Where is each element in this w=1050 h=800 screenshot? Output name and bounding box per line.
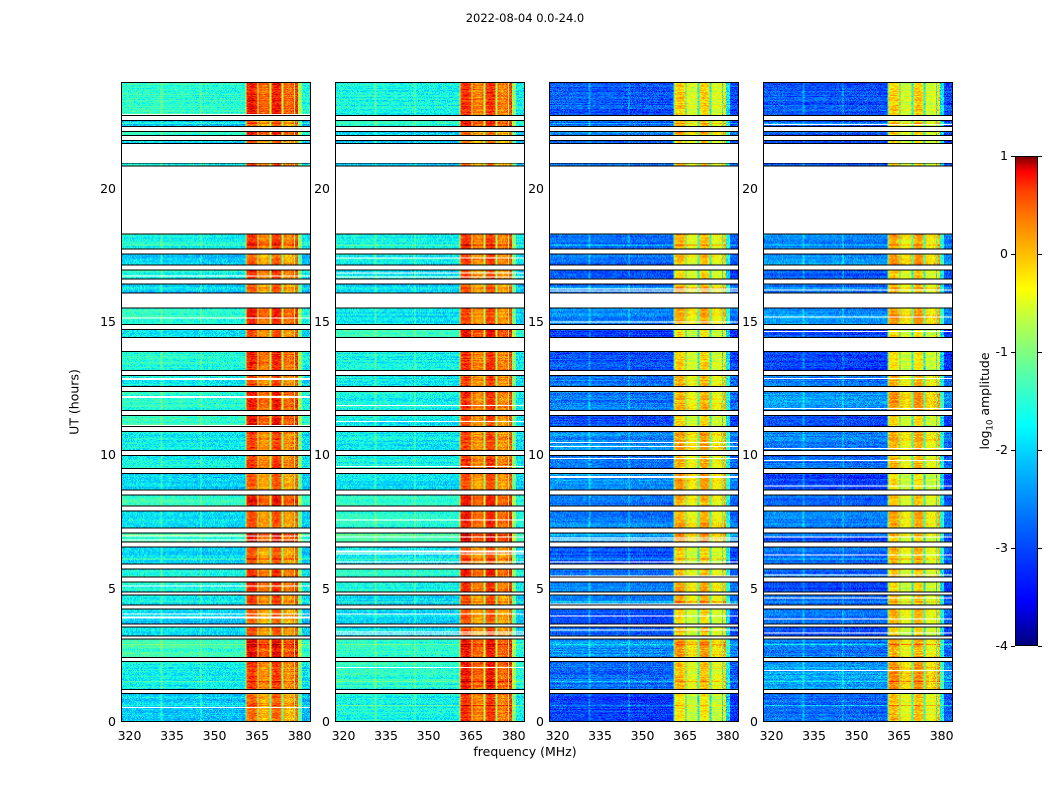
x-tick-top [686, 82, 687, 83]
y-tick-label: 20 [718, 181, 758, 196]
y-tick-right [952, 590, 953, 591]
y-tick-label: 15 [718, 314, 758, 329]
x-tick [601, 721, 602, 722]
x-tick-top [815, 82, 816, 83]
figure-canvas: 2022-08-04 0.0-24.0 XX, V4*V10=EA03*EA01… [0, 0, 1050, 800]
colorbar-axis-label: log10 amplitude [977, 352, 996, 449]
colorbar-tick-right [1038, 450, 1042, 451]
x-tick-top [729, 82, 730, 83]
y-tick-label: 0 [290, 714, 330, 729]
y-tick [335, 323, 336, 324]
y-tick-label: 20 [504, 181, 544, 196]
x-tick-top [345, 82, 346, 83]
x-tick [345, 721, 346, 722]
panel-xy[interactable]: XY, V4*V10=EA03*EA01 [549, 82, 739, 722]
colorbar-tick-right [1038, 352, 1042, 353]
colorbar-tick-right [1038, 548, 1042, 549]
y-tick [335, 456, 336, 457]
y-tick-label: 15 [290, 314, 330, 329]
colorbar-tick-label: 0 [968, 246, 1008, 261]
x-tick-top [900, 82, 901, 83]
y-tick [763, 190, 764, 191]
colorbar-tick-right [1038, 646, 1042, 647]
y-tick [335, 590, 336, 591]
y-tick [549, 323, 550, 324]
y-tick-label: 0 [76, 714, 116, 729]
heatmap-image-xx [122, 83, 310, 721]
x-tick-top [173, 82, 174, 83]
x-tick [173, 721, 174, 722]
colorbar-label-tail: amplitude [977, 352, 992, 419]
x-tick-top [472, 82, 473, 83]
y-tick-label: 10 [290, 447, 330, 462]
colorbar-tick [1011, 450, 1015, 451]
y-tick-label: 5 [504, 581, 544, 596]
y-tick [121, 456, 122, 457]
x-tick-top [258, 82, 259, 83]
colorbar: 10-1-2-3-4 [1015, 156, 1038, 646]
y-tick [121, 590, 122, 591]
x-axis-label: frequency (MHz) [0, 744, 1050, 759]
y-tick-label: 20 [290, 181, 330, 196]
x-tick [858, 721, 859, 722]
x-tick [258, 721, 259, 722]
y-tick-label: 5 [290, 581, 330, 596]
heatmap-image-xy [550, 83, 738, 721]
colorbar-tick [1011, 646, 1015, 647]
x-tick-top [430, 82, 431, 83]
y-tick-right [952, 190, 953, 191]
colorbar-tick-label: -4 [968, 638, 1008, 653]
colorbar-tick-label: 1 [968, 148, 1008, 163]
x-tick-top [559, 82, 560, 83]
y-tick-label: 10 [76, 447, 116, 462]
y-tick [763, 323, 764, 324]
x-tick [216, 721, 217, 722]
y-tick [121, 190, 122, 191]
y-tick-right [952, 456, 953, 457]
y-tick-label: 0 [504, 714, 544, 729]
x-tick [943, 721, 944, 722]
x-tick [559, 721, 560, 722]
y-tick-label: 15 [504, 314, 544, 329]
x-tick-top [858, 82, 859, 83]
y-tick [121, 323, 122, 324]
x-tick [773, 721, 774, 722]
colorbar-tick-label: -3 [968, 540, 1008, 555]
y-tick-label: 0 [718, 714, 758, 729]
colorbar-tick [1011, 156, 1015, 157]
y-tick [549, 456, 550, 457]
y-tick-label: 20 [76, 181, 116, 196]
colorbar-label-subscript: 10 [985, 420, 995, 431]
y-tick [763, 590, 764, 591]
panel-xx[interactable]: XX, V4*V10=EA03*EA01 [121, 82, 311, 722]
y-tick-label: 10 [504, 447, 544, 462]
colorbar-tick [1011, 548, 1015, 549]
x-tick [686, 721, 687, 722]
x-tick-top [515, 82, 516, 83]
x-tick-top [644, 82, 645, 83]
x-tick [472, 721, 473, 722]
y-tick-right [952, 323, 953, 324]
colorbar-tick [1011, 352, 1015, 353]
colorbar-tick [1011, 254, 1015, 255]
y-tick-label: 15 [76, 314, 116, 329]
x-tick-top [387, 82, 388, 83]
x-tick-top [216, 82, 217, 83]
x-tick-top [601, 82, 602, 83]
y-tick [335, 190, 336, 191]
x-tick [815, 721, 816, 722]
x-tick [644, 721, 645, 722]
x-tick [900, 721, 901, 722]
figure-suptitle: 2022-08-04 0.0-24.0 [0, 11, 1050, 25]
y-tick-label: 10 [718, 447, 758, 462]
panel-yx[interactable]: YX, V4*V10=EA03*EA01 [763, 82, 953, 722]
colorbar-gradient [1015, 156, 1038, 646]
x-tick-top [131, 82, 132, 83]
y-tick-label: 5 [718, 581, 758, 596]
x-tick-top [773, 82, 774, 83]
panel-yy[interactable]: YY, V4*V10=EA03*EA01 [335, 82, 525, 722]
x-tick-top [301, 82, 302, 83]
x-tick [131, 721, 132, 722]
colorbar-tick-right [1038, 254, 1042, 255]
x-tick [387, 721, 388, 722]
x-tick-label: 380 [912, 728, 972, 743]
x-tick-top [943, 82, 944, 83]
x-tick [430, 721, 431, 722]
heatmap-image-yx [764, 83, 952, 721]
heatmap-image-yy [336, 83, 524, 721]
y-axis-label: UT (hours) [67, 369, 82, 435]
colorbar-tick-right [1038, 156, 1042, 157]
y-tick [763, 456, 764, 457]
colorbar-label-main: log [977, 430, 992, 449]
y-tick-label: 5 [76, 581, 116, 596]
y-tick [549, 190, 550, 191]
y-tick [549, 590, 550, 591]
